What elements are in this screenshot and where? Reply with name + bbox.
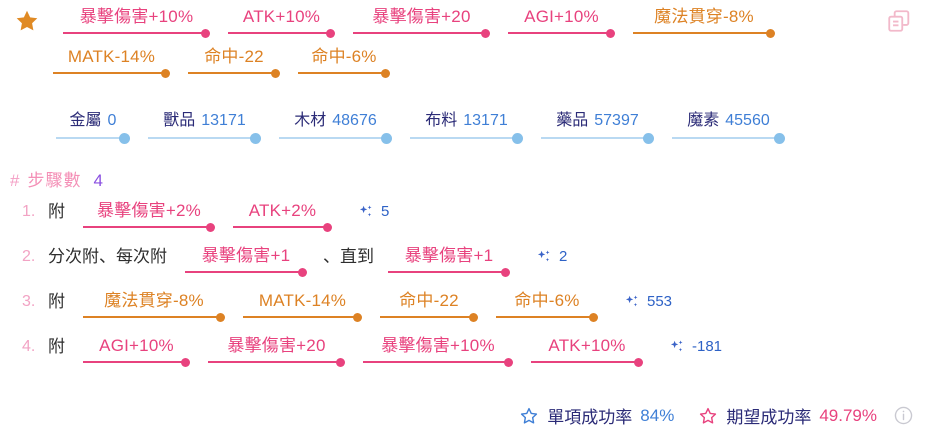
- effect-chip-rule: [243, 313, 362, 322]
- step-effect-chip[interactable]: 魔法貫穿-8%: [75, 290, 235, 322]
- resource-chip-rule: [279, 133, 392, 144]
- effect-chip-label: 暴擊傷害+2%: [83, 200, 215, 222]
- step-score-value: -181: [692, 335, 722, 359]
- step-effect-chip[interactable]: ATK+2%: [225, 200, 342, 232]
- resource-chip[interactable]: 魔素45560: [664, 110, 795, 144]
- step-number: 2.: [22, 245, 48, 269]
- resource-chip[interactable]: 布料13171: [402, 110, 533, 144]
- expected-success-rate: 期望成功率 49.79%: [698, 403, 877, 428]
- effect-chip-label: AGI+10%: [83, 335, 190, 357]
- step-number: 4.: [22, 335, 48, 359]
- effect-chip-label: 暴擊傷害+10%: [363, 335, 513, 357]
- step-prefix-text: 附: [48, 290, 75, 314]
- step-list: 1.附暴擊傷害+2%ATK+2%52.分次附、每次附暴擊傷害+1、直到暴擊傷害+…: [0, 200, 930, 380]
- effect-chip-label: ATK+2%: [233, 200, 332, 222]
- effect-chip-label: 暴擊傷害+20: [208, 335, 345, 357]
- resource-chip-rule: [541, 133, 654, 144]
- buff-chip[interactable]: ATK+10%: [220, 6, 345, 38]
- step-number: 1.: [22, 200, 48, 224]
- step-effect-chip[interactable]: 命中-22: [372, 290, 488, 322]
- resource-chip-rule: [56, 133, 130, 144]
- sparkle-icon: [536, 249, 552, 265]
- resource-value: 13171: [201, 112, 246, 129]
- resource-row: 金屬0獸品13171木材48676布料13171藥品57397魔素45560: [0, 110, 930, 144]
- hash-icon: #: [10, 171, 19, 191]
- step-score: 5: [358, 200, 389, 224]
- effect-chip-rule: [228, 29, 335, 38]
- star-outline-icon: [698, 406, 718, 426]
- step-score: 2: [536, 245, 567, 269]
- effect-chip-rule: [53, 69, 170, 78]
- resource-value: 57397: [594, 112, 639, 129]
- step-row[interactable]: 1.附暴擊傷害+2%ATK+2%5: [0, 200, 930, 245]
- step-effect-chip[interactable]: 暴擊傷害+20: [200, 335, 355, 367]
- effect-chip-label: 魔法貫穿-8%: [633, 6, 775, 28]
- effect-chip-rule: [188, 69, 280, 78]
- effect-chip-rule: [233, 223, 332, 232]
- effect-chip-rule: [531, 358, 643, 367]
- resource-chip[interactable]: 金屬0: [48, 110, 140, 144]
- resource-name: 金屬: [70, 112, 102, 129]
- effect-chip-rule: [380, 313, 478, 322]
- effect-chip-label: 暴擊傷害+1: [185, 245, 307, 267]
- resource-chip-rule: [672, 133, 785, 144]
- buff-area: 暴擊傷害+10%ATK+10%暴擊傷害+20AGI+10%魔法貫穿-8% MAT…: [0, 6, 930, 78]
- step-separator-text: 、直到: [317, 245, 380, 269]
- effect-chip-label: 命中-6%: [496, 290, 598, 312]
- resource-value: 45560: [725, 112, 770, 129]
- resource-chip-rule: [410, 133, 523, 144]
- resource-label: 金屬0: [56, 110, 130, 132]
- effect-chip-rule: [83, 358, 190, 367]
- step-effect-chip[interactable]: 暴擊傷害+1: [177, 245, 317, 277]
- resource-name: 獸品: [163, 112, 195, 129]
- effect-chip-rule: [185, 268, 307, 277]
- single-success-rate: 單項成功率 84%: [519, 403, 674, 428]
- resource-name: 布料: [425, 112, 457, 129]
- effect-chip-label: 命中-22: [188, 46, 280, 68]
- effect-chip-label: MATK-14%: [243, 290, 362, 312]
- resource-value: 48676: [332, 112, 377, 129]
- step-number: 3.: [22, 290, 48, 314]
- resource-value: 13171: [463, 112, 508, 129]
- resource-value: 0: [108, 112, 117, 129]
- step-effect-chip[interactable]: ATK+10%: [523, 335, 653, 367]
- steps-count-value: 4: [93, 171, 102, 191]
- effect-chip-label: ATK+10%: [228, 6, 335, 28]
- steps-count-label: 步驟數: [27, 166, 81, 191]
- steps-count-header: # 步驟數 4: [10, 166, 103, 191]
- expected-rate-label: 期望成功率: [726, 403, 811, 428]
- buff-chip[interactable]: MATK-14%: [45, 46, 180, 78]
- sparkle-icon: [624, 294, 640, 310]
- effect-chip-rule: [83, 223, 215, 232]
- expected-rate-value: 49.79%: [819, 406, 877, 426]
- resource-chip[interactable]: 藥品57397: [533, 110, 664, 144]
- resource-chip-rule: [148, 133, 261, 144]
- effect-chip-rule: [83, 313, 225, 322]
- effect-chip-rule: [63, 29, 210, 38]
- step-row[interactable]: 2.分次附、每次附暴擊傷害+1、直到暴擊傷害+12: [0, 245, 930, 290]
- effect-chip-rule: [508, 29, 615, 38]
- step-prefix-text: 附: [48, 335, 75, 359]
- step-effect-chip[interactable]: 暴擊傷害+10%: [355, 335, 523, 367]
- effect-chip-label: 暴擊傷害+1: [388, 245, 510, 267]
- resource-label: 魔素45560: [672, 110, 785, 132]
- step-prefix-text: 分次附、每次附: [48, 245, 177, 269]
- effect-chip-label: 命中-22: [380, 290, 478, 312]
- resource-label: 獸品13171: [148, 110, 261, 132]
- step-prefix-text: 附: [48, 200, 75, 224]
- effect-chip-rule: [363, 358, 513, 367]
- step-score-value: 5: [381, 200, 389, 224]
- effect-chip-label: 暴擊傷害+20: [353, 6, 490, 28]
- effect-chip-rule: [208, 358, 345, 367]
- step-row[interactable]: 4.附AGI+10%暴擊傷害+20暴擊傷害+10%ATK+10%-181: [0, 335, 930, 380]
- step-score: -181: [669, 335, 722, 359]
- info-circle-icon[interactable]: [893, 405, 914, 426]
- effect-chip-label: AGI+10%: [508, 6, 615, 28]
- resource-chip[interactable]: 獸品13171: [140, 110, 271, 144]
- single-rate-label: 單項成功率: [547, 403, 632, 428]
- step-effect-chip[interactable]: AGI+10%: [75, 335, 200, 367]
- effect-chip-rule: [298, 69, 390, 78]
- resource-label: 木材48676: [279, 110, 392, 132]
- footer-rates: 單項成功率 84% 期望成功率 49.79%: [519, 403, 914, 428]
- buff-chip[interactable]: 魔法貫穿-8%: [625, 6, 785, 38]
- buff-row-primary: 暴擊傷害+10%ATK+10%暴擊傷害+20AGI+10%魔法貫穿-8%: [0, 6, 930, 38]
- effect-chip-label: 命中-6%: [298, 46, 390, 68]
- star-outline-icon: [519, 406, 539, 426]
- sparkle-icon: [358, 204, 374, 220]
- step-effect-chip[interactable]: MATK-14%: [235, 290, 372, 322]
- step-row[interactable]: 3.附魔法貫穿-8%MATK-14%命中-22命中-6%553: [0, 290, 930, 335]
- sparkle-icon: [669, 339, 685, 355]
- resource-name: 木材: [294, 112, 326, 129]
- buff-chip[interactable]: 命中-22: [180, 46, 290, 78]
- effect-chip-label: ATK+10%: [531, 335, 643, 357]
- effect-chip-label: MATK-14%: [53, 46, 170, 68]
- buff-chip[interactable]: 暴擊傷害+10%: [55, 6, 220, 38]
- step-score-value: 2: [559, 245, 567, 269]
- step-score: 553: [624, 290, 672, 314]
- resource-name: 魔素: [687, 112, 719, 129]
- resource-label: 布料13171: [410, 110, 523, 132]
- effect-chip-rule: [633, 29, 775, 38]
- resource-label: 藥品57397: [541, 110, 654, 132]
- buff-row-secondary: MATK-14%命中-22命中-6%: [0, 46, 930, 78]
- effect-chip-label: 魔法貫穿-8%: [83, 290, 225, 312]
- resource-name: 藥品: [556, 112, 588, 129]
- effect-chip-rule: [496, 313, 598, 322]
- step-effect-chip[interactable]: 暴擊傷害+2%: [75, 200, 225, 232]
- resource-chip[interactable]: 木材48676: [271, 110, 402, 144]
- single-rate-value: 84%: [640, 406, 674, 426]
- effect-chip-rule: [353, 29, 490, 38]
- step-effect-chip[interactable]: 暴擊傷害+1: [380, 245, 520, 277]
- effect-chip-rule: [388, 268, 510, 277]
- step-score-value: 553: [647, 290, 672, 314]
- buff-chip[interactable]: 暴擊傷害+20: [345, 6, 500, 38]
- step-effect-chip[interactable]: 命中-6%: [488, 290, 608, 322]
- effect-chip-label: 暴擊傷害+10%: [63, 6, 210, 28]
- buff-chip[interactable]: AGI+10%: [500, 6, 625, 38]
- buff-chip[interactable]: 命中-6%: [290, 46, 400, 78]
